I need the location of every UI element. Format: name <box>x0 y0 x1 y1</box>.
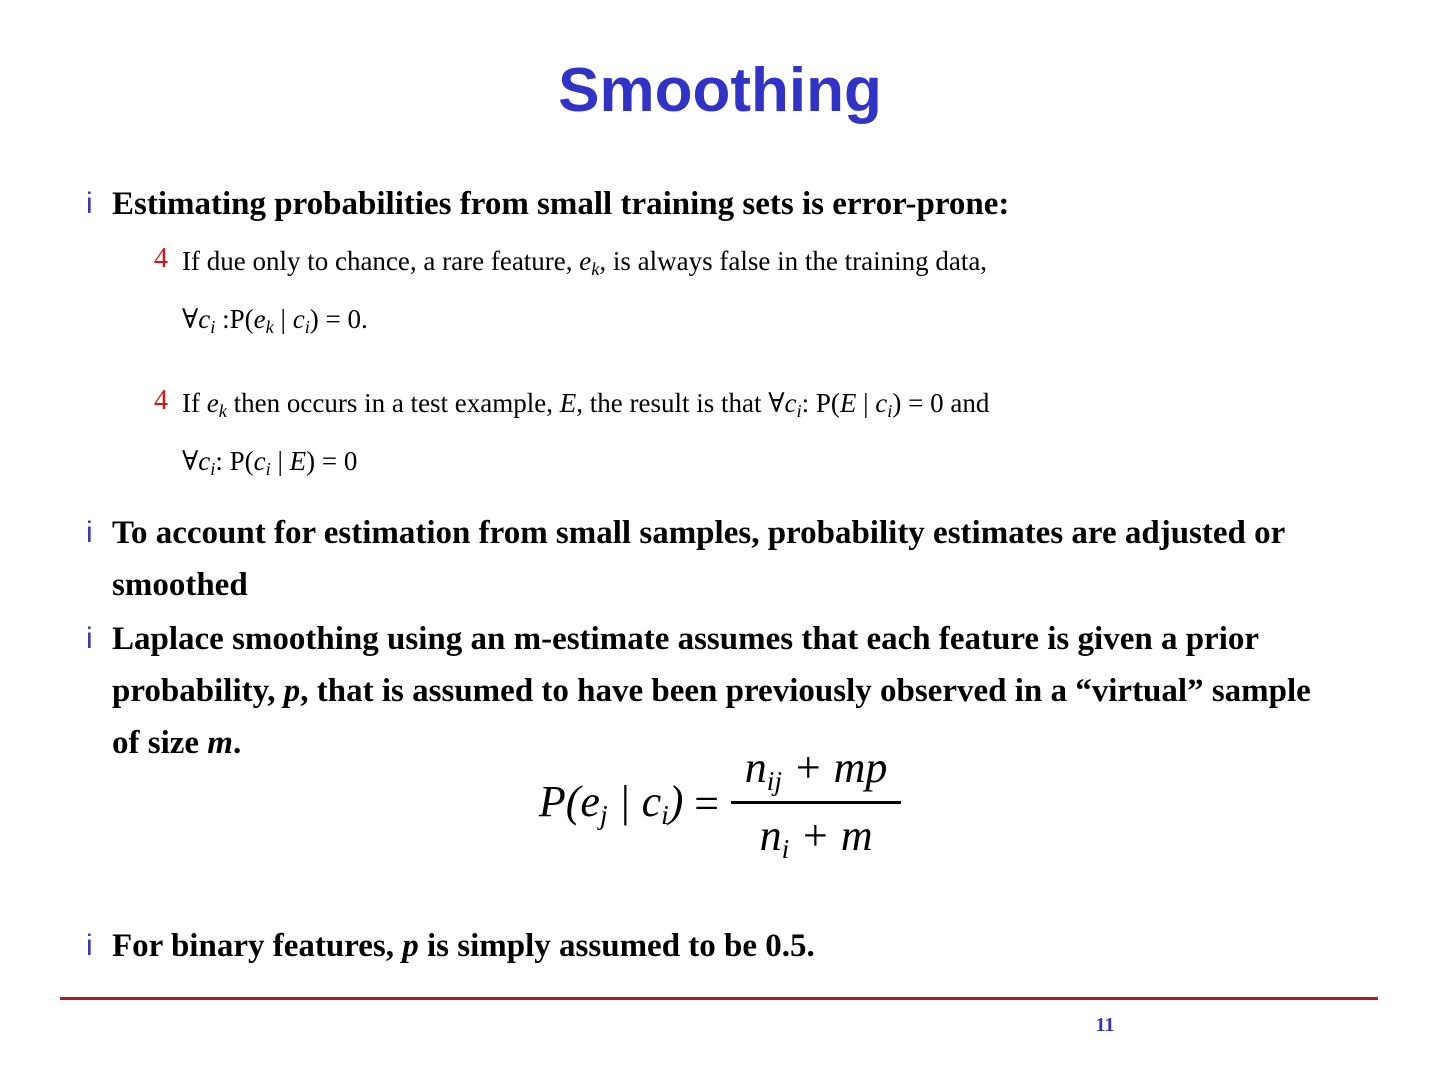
equation-denominator: ni + m <box>748 804 885 865</box>
equation-sub-i: i <box>661 800 669 830</box>
text-fragment: For binary features, <box>112 928 402 964</box>
text-fragment: If due only to chance, a rare feature, <box>182 246 579 276</box>
text-fragment: : P( <box>802 388 840 418</box>
math-var-c: c <box>785 388 797 418</box>
subbullet-marker-icon: 4 <box>60 236 182 282</box>
math-var-c: c <box>875 388 887 418</box>
equation-sub-j: j <box>600 800 608 830</box>
math-var-c: c <box>254 446 266 476</box>
math-forall-icon: ∀ <box>182 304 198 334</box>
equation-fraction: nij + mp ni + m <box>731 742 901 865</box>
page-title: Smoothing <box>0 58 1440 123</box>
subbullet-marker-icon: 4 <box>60 378 182 424</box>
slide-canvas: Smoothing i Estimating probabilities fro… <box>0 0 1440 1080</box>
subbullet-text: If due only to chance, a rare feature, e… <box>182 236 1302 352</box>
math-sub-k: k <box>266 317 274 337</box>
text-fragment: : P( <box>215 446 253 476</box>
math-var-E: E <box>290 446 307 476</box>
math-var-e: e <box>254 304 266 334</box>
footer-divider <box>60 997 1378 1000</box>
bullet-text: To account for estimation from small sam… <box>112 507 1322 611</box>
page-number: 11 <box>1060 1014 1150 1037</box>
bullet-marker-icon: i <box>60 507 112 559</box>
subbullet-line-1: If ek then occurs in a test example, E, … <box>182 378 1302 436</box>
equation-lhs-head: P(e <box>539 777 600 826</box>
bullet-marker-icon: i <box>60 920 112 972</box>
bullet-level1-estimating: i Estimating probabilities from small tr… <box>60 178 1390 230</box>
equation-num-sub: ij <box>767 766 782 796</box>
math-var-e: e <box>579 246 591 276</box>
text-fragment: ) = 0 <box>306 446 357 476</box>
equation-lhs-mid: | c <box>608 777 662 826</box>
bullet-marker-icon: i <box>60 178 112 230</box>
equation-num-n: n <box>745 743 767 792</box>
math-given-bar: | <box>271 446 290 476</box>
text-fragment: , is always false in the training data, <box>599 246 987 276</box>
equation-den-sub: i <box>782 834 790 864</box>
equation-numerator: nij + mp <box>733 742 900 801</box>
math-var-c: c <box>293 304 305 334</box>
math-var-c: c <box>198 304 210 334</box>
spacer <box>60 358 1390 372</box>
laplace-m-estimate-equation: P(ej | ci) = nij + mp ni + m <box>539 742 901 865</box>
subbullet-text: If ek then occurs in a test example, E, … <box>182 378 1302 494</box>
text-fragment: ) = 0 and <box>892 388 989 418</box>
bullet-level2-test-example: 4 If ek then occurs in a test example, E… <box>60 378 1390 494</box>
slide-body-bottom: i For binary features, p is simply assum… <box>60 920 1390 974</box>
slide-body: i Estimating probabilities from small tr… <box>60 178 1390 771</box>
equation-block: P(ej | ci) = nij + mp ni + m <box>0 742 1440 865</box>
text-fragment: then occurs in a test example, <box>227 388 560 418</box>
math-forall-icon: ∀ <box>182 446 198 476</box>
equation-equals-sign: = <box>687 778 731 829</box>
text-fragment: , the result is that <box>576 388 768 418</box>
math-forall-icon: ∀ <box>768 388 784 418</box>
subbullet-line-2: ∀ci: P(ci | E) = 0 <box>182 436 1302 494</box>
math-var-e: e <box>207 388 219 418</box>
equation-den-n: n <box>760 811 782 860</box>
text-fragment: :P( <box>215 304 253 334</box>
math-given-bar: | <box>274 304 293 334</box>
text-fragment: ) = 0. <box>310 304 368 334</box>
math-var-p: p <box>284 673 301 709</box>
bullet-text: Estimating probabilities from small trai… <box>112 178 1322 230</box>
equation-den-rest: + m <box>789 811 872 860</box>
equation-lhs-close: ) <box>669 777 684 826</box>
math-var-E: E <box>560 388 577 418</box>
math-sub-k: k <box>219 401 227 421</box>
math-var-E: E <box>840 388 857 418</box>
bullet-text: For binary features, p is simply assumed… <box>112 920 1322 972</box>
text-fragment: is simply assumed to be 0.5. <box>419 928 815 964</box>
bullet-marker-icon: i <box>60 613 112 665</box>
math-var-p: p <box>402 928 419 964</box>
subbullet-line-2: ∀ci :P(ek | ci) = 0. <box>182 294 1302 352</box>
bullet-level1-account-estimation: i To account for estimation from small s… <box>60 507 1390 611</box>
text-fragment: If <box>182 388 207 418</box>
equation-num-rest: + mp <box>782 743 887 792</box>
math-given-bar: | <box>856 388 875 418</box>
subbullet-line-1: If due only to chance, a rare feature, e… <box>182 236 1302 294</box>
equation-lhs: P(ej | ci) <box>539 776 688 831</box>
math-var-c: c <box>198 446 210 476</box>
bullet-level2-rare-feature: 4 If due only to chance, a rare feature,… <box>60 236 1390 352</box>
bullet-level1-binary-features: i For binary features, p is simply assum… <box>60 920 1390 972</box>
